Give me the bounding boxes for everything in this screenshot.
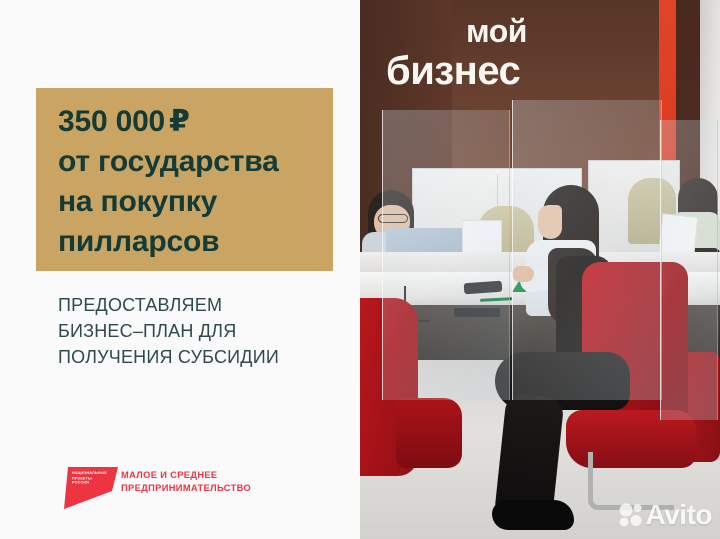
offer-amount-line: 350 000₽ xyxy=(58,102,333,142)
currency-symbol: ₽ xyxy=(169,105,190,138)
glass-partition-1 xyxy=(382,110,510,400)
subtitle-line-2: БИЗНЕС–ПЛАН ДЛЯ xyxy=(58,318,348,344)
left-text-panel: 350 000₽ от государства на покупку пилла… xyxy=(0,0,360,539)
ad-banner: 350 000₽ от государства на покупку пилла… xyxy=(0,0,720,539)
avito-watermark: Avito xyxy=(618,499,712,531)
offer-callout-box: 350 000₽ от государства на покупку пилла… xyxy=(36,88,333,271)
office-photo: мой бизнес xyxy=(360,0,720,539)
subtitle-block: ПРЕДОСТАВЛЯЕМ БИЗНЕС–ПЛАН ДЛЯ ПОЛУЧЕНИЯ … xyxy=(58,292,348,370)
red-chair-left-seat xyxy=(396,398,462,468)
logo-label: МАЛОЕ И СРЕДНЕЕ ПРЕДПРИНИМАТЕЛЬСТВО xyxy=(121,469,251,494)
photo-scene: мой бизнес xyxy=(360,0,720,539)
avito-wordmark: Avito xyxy=(646,499,712,531)
subtitle-line-3: ПОЛУЧЕНИЯ СУБСИДИИ xyxy=(58,344,348,370)
glass-partition-2 xyxy=(512,100,662,400)
logo-flag-text: НАЦИОНАЛЬНЫЕ ПРОЕКТЫ РОССИИ xyxy=(72,471,116,485)
offer-line-3: на покупку xyxy=(58,182,333,222)
person-center-shoe xyxy=(492,500,574,530)
glass-partition-3 xyxy=(660,120,718,420)
avito-dots-icon xyxy=(618,502,644,528)
subtitle-line-1: ПРЕДОСТАВЛЯЕМ xyxy=(58,292,348,318)
logo-flag-line-3: РОССИИ xyxy=(72,481,116,486)
logo-flag-icon: НАЦИОНАЛЬНЫЕ ПРОЕКТЫ РОССИИ xyxy=(62,466,118,510)
logo-label-line-1: МАЛОЕ И СРЕДНЕЕ xyxy=(121,469,251,482)
logo-label-line-2: ПРЕДПРИНИМАТЕЛЬСТВО xyxy=(121,482,251,495)
offer-amount: 350 000 xyxy=(58,105,165,138)
offer-line-4: пилларсов xyxy=(58,222,333,262)
national-projects-logo: НАЦИОНАЛЬНЫЕ ПРОЕКТЫ РОССИИ МАЛОЕ И СРЕД… xyxy=(62,466,251,510)
sign-line-2: бизнес xyxy=(386,50,636,92)
offer-line-2: от государства xyxy=(58,142,333,182)
sign-line-1: мой xyxy=(466,14,636,48)
moy-biznes-sign: мой бизнес xyxy=(386,14,636,92)
